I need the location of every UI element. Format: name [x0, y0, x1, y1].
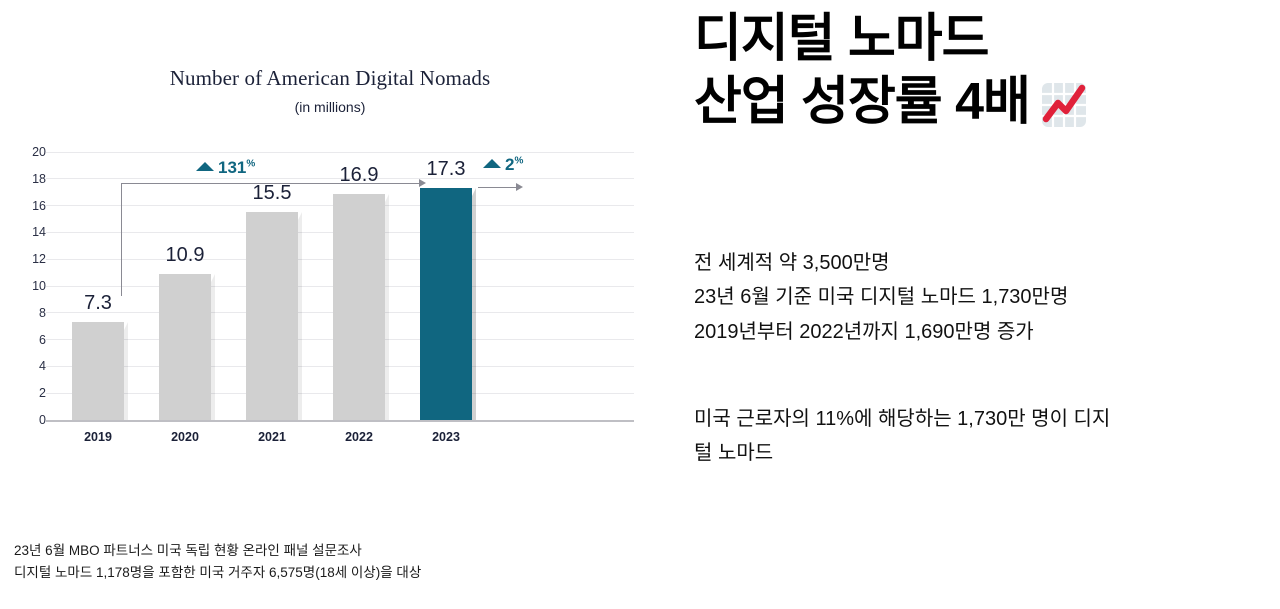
bar-chart-plot: 02468101214161820 7.3201910.9202015.5202… — [0, 0, 660, 609]
body-2-line-2: 털 노마드 — [694, 436, 1254, 470]
bar-corner-chamfer — [472, 188, 476, 196]
y-axis-tick-label: 20 — [6, 146, 46, 159]
growth-label-131-percent: 131% — [196, 158, 255, 178]
growth-value-131: 131 — [218, 158, 246, 177]
y-axis-tick-label: 14 — [6, 226, 46, 239]
bar-2021[interactable] — [246, 212, 298, 420]
bar-corner-chamfer — [298, 212, 302, 220]
growth-arrow-2022-2023-line — [478, 187, 518, 188]
x-axis-tick-2022: 2022 — [319, 430, 399, 444]
y-axis-tick-label: 2 — [6, 387, 46, 400]
bar-corner-chamfer — [124, 322, 128, 330]
x-axis-tick-2023: 2023 — [406, 430, 486, 444]
bar-value-label-2019: 7.3 — [58, 292, 138, 315]
y-axis-tick-label: 8 — [6, 307, 46, 320]
y-axis-tick-label: 0 — [6, 414, 46, 427]
headline-line-1: 디지털 노마드 — [694, 8, 1280, 71]
growth-arrow-2019-2022-head — [419, 179, 426, 187]
footnote-line-2: 디지털 노마드 1,178명을 포함한 미국 거주자 6,575명(18세 이상… — [14, 562, 654, 584]
bar-value-label-2023: 17.3 — [406, 158, 486, 181]
page-title: 디지털 노마드 산업 성장률 4배 — [694, 8, 1280, 145]
bar-2022[interactable] — [333, 194, 385, 420]
y-axis-tick-label: 18 — [6, 173, 46, 186]
text-panel: 디지털 노마드 산업 성장률 4배 전 세계적 약 3,500만명 23년 6월… — [694, 0, 1280, 609]
growth-label-2-percent: 2% — [483, 155, 523, 175]
body-1-line-2: 23년 6월 기준 미국 디지털 노마드 1,730만명 — [694, 280, 1280, 314]
percent-sign: % — [246, 158, 255, 169]
y-axis-tick-label: 6 — [6, 334, 46, 347]
bar-2019[interactable] — [72, 322, 124, 420]
body-paragraph-1: 전 세계적 약 3,500만명 23년 6월 기준 미국 디지털 노마드 1,7… — [694, 246, 1280, 349]
triangle-up-icon — [483, 159, 501, 168]
x-axis-tick-2020: 2020 — [145, 430, 225, 444]
headline-line-2-wrap: 산업 성장률 4배 — [694, 71, 1280, 144]
headline-line-2: 산업 성장률 4배 — [694, 73, 1030, 131]
chart-panel: Number of American Digital Nomads (in mi… — [0, 0, 660, 609]
growth-arrow-2022-2023-head — [516, 183, 523, 191]
x-axis-baseline — [46, 420, 634, 422]
bar-value-label-2021: 15.5 — [232, 182, 312, 205]
y-axis-tick-label: 10 — [6, 280, 46, 293]
gridline — [46, 152, 634, 153]
percent-sign: % — [514, 155, 523, 166]
bar-corner-chamfer — [211, 274, 215, 282]
body-1-line-3: 2019년부터 2022년까지 1,690만명 증가 — [694, 315, 1280, 349]
x-axis-tick-2019: 2019 — [58, 430, 138, 444]
x-axis-tick-2021: 2021 — [232, 430, 312, 444]
y-axis-tick-label: 16 — [6, 200, 46, 213]
bar-2023[interactable] — [420, 188, 472, 420]
body-2-line-1: 미국 근로자의 11%에 해당하는 1,730만 명이 디지 — [694, 402, 1254, 436]
growth-arrow-2019-2022-vertical — [121, 184, 122, 296]
footnote-line-1: 23년 6월 MBO 파트너스 미국 독립 현황 온라인 패널 설문조사 — [14, 540, 654, 562]
bar-2020[interactable] — [159, 274, 211, 420]
y-axis-tick-label: 4 — [6, 360, 46, 373]
bar-corner-chamfer — [385, 194, 389, 202]
triangle-up-icon — [196, 162, 214, 171]
body-paragraph-2: 미국 근로자의 11%에 해당하는 1,730만 명이 디지 털 노마드 — [694, 402, 1254, 471]
footnotes: 23년 6월 MBO 파트너스 미국 독립 현황 온라인 패널 설문조사 디지털… — [14, 540, 654, 585]
body-1-line-1: 전 세계적 약 3,500만명 — [694, 246, 1280, 280]
chart-increasing-emoji — [1040, 81, 1088, 144]
y-axis-tick-label: 12 — [6, 253, 46, 266]
growth-arrow-2019-2022-horizontal — [121, 183, 421, 184]
bar-value-label-2020: 10.9 — [145, 244, 225, 267]
